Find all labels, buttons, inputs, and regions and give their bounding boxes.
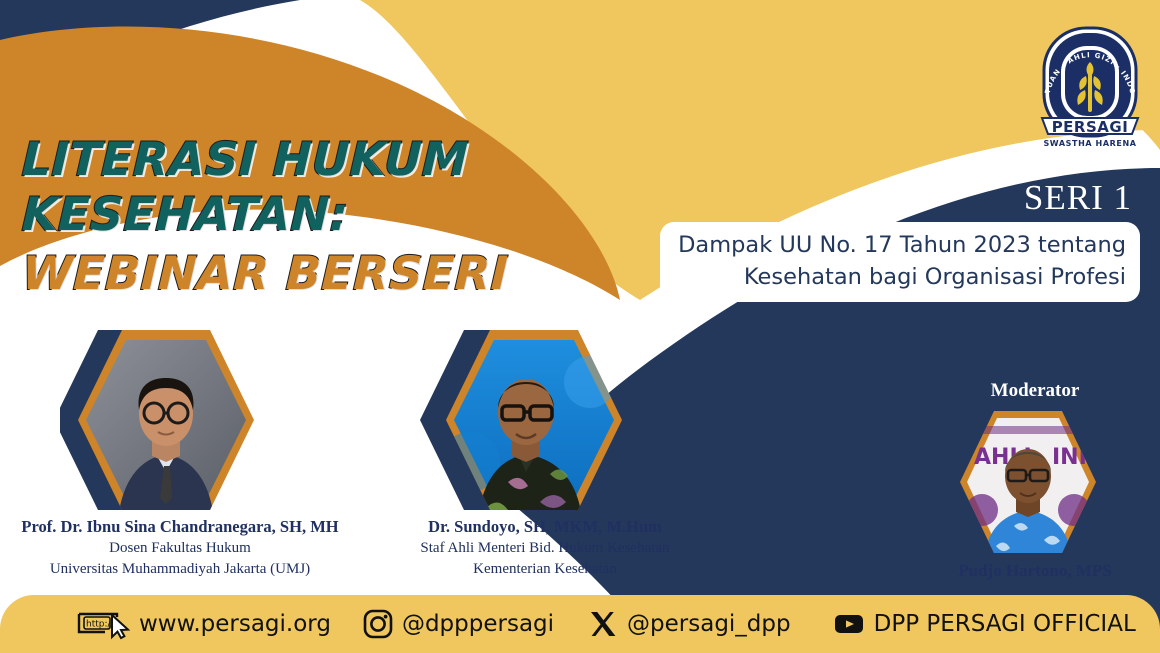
svg-text:http://: http:// (86, 620, 115, 630)
svg-text:INI: INI (1052, 445, 1087, 470)
youtube-icon (833, 612, 865, 636)
persagi-logo: PERSATUAN · AHLI GIZI · INDONESIA PERSAG… (1036, 14, 1144, 156)
moderator-label: Moderator (940, 380, 1130, 402)
moderator-caption: Pudjo Hartono, MPS (925, 560, 1145, 582)
moderator-name: Pudjo Hartono, MPS (925, 560, 1145, 582)
footer-bar: http:// www.persagi.org @dpppersagi (0, 595, 1160, 653)
title-line-1: LITERASI HUKUM (21, 132, 563, 187)
speaker-2-role-2: Kementerian Kesehatan (355, 559, 735, 580)
topic-banner: Dampak UU No. 17 Tahun 2023 tentang Kese… (660, 222, 1140, 302)
poster-title: LITERASI HUKUM KESEHATAN: WEBINAR BERSER… (22, 132, 562, 301)
series-label: SERI 1 (1024, 178, 1132, 218)
webinar-poster: LITERASI HUKUM KESEHATAN: WEBINAR BERSER… (0, 0, 1160, 653)
footer-instagram[interactable]: @dpppersagi (363, 609, 554, 639)
footer-youtube[interactable]: DPP PERSAGI OFFICIAL (833, 611, 1136, 637)
speaker-1-role-2: Universitas Muhammadiyah Jakarta (UMJ) (0, 559, 360, 580)
logo-banner-text: PERSAGI (1052, 118, 1129, 136)
title-line-2: KESEHATAN: (21, 187, 563, 242)
x-label: @persagi_dpp (627, 611, 791, 637)
website-label: www.persagi.org (139, 611, 331, 637)
instagram-icon (363, 609, 393, 639)
footer-x[interactable]: @persagi_dpp (588, 609, 791, 639)
speaker-2-name: Dr. Sundoyo, SH, MKM, M.Hum (355, 516, 735, 538)
instagram-label: @dpppersagi (402, 611, 554, 637)
topic-line-2: Kesehatan bagi Organisasi Profesi (674, 261, 1126, 293)
speaker-2-photo-frame (400, 322, 630, 518)
title-line-3: WEBINAR BERSERI (21, 246, 563, 301)
logo-motto: SWASTHA HARENA (1043, 139, 1136, 148)
footer-website[interactable]: http:// www.persagi.org (76, 608, 331, 640)
speaker-1-photo-frame (60, 322, 260, 518)
website-cursor-icon: http:// (76, 608, 130, 640)
youtube-label: DPP PERSAGI OFFICIAL (874, 611, 1136, 637)
moderator-photo-frame: AHLI INI (940, 406, 1116, 558)
speaker-2-caption: Dr. Sundoyo, SH, MKM, M.Hum Staf Ahli Me… (355, 516, 735, 580)
speaker-1-name: Prof. Dr. Ibnu Sina Chandranegara, SH, M… (0, 516, 360, 538)
topic-line-1: Dampak UU No. 17 Tahun 2023 tentang (674, 229, 1126, 261)
speaker-1-caption: Prof. Dr. Ibnu Sina Chandranegara, SH, M… (0, 516, 360, 580)
speaker-1-role-1: Dosen Fakultas Hukum (0, 538, 360, 559)
speaker-2-role-1: Staf Ahli Menteri Bid. Hukum Kesehatan (355, 538, 735, 559)
x-twitter-icon (588, 609, 618, 639)
